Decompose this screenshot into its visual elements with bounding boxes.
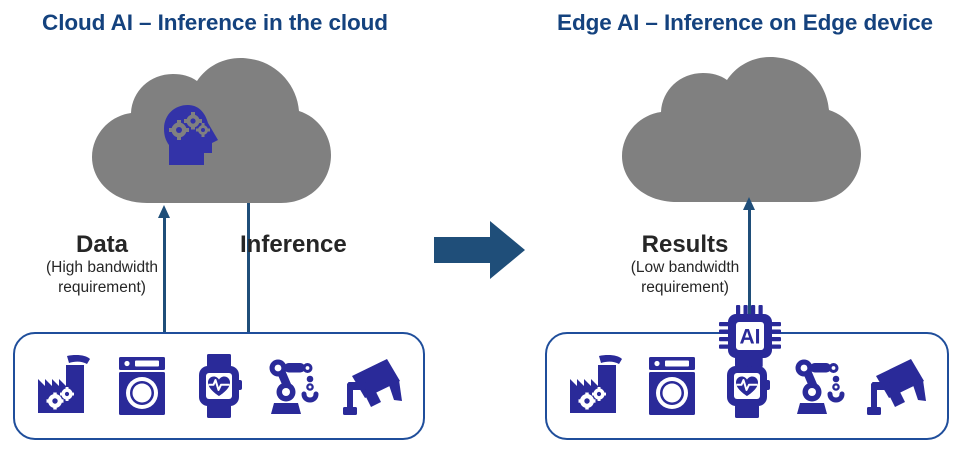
edge-cloud-shape-icon bbox=[615, 52, 865, 204]
cctv-camera-icon bbox=[866, 353, 928, 419]
cloud-device-row bbox=[15, 334, 423, 438]
inference-arrow-line bbox=[247, 203, 250, 345]
cctv-camera-icon bbox=[342, 353, 404, 419]
cloud-ai-title: Cloud AI – Inference in the cloud bbox=[0, 10, 430, 36]
results-label-title: Results bbox=[600, 232, 770, 258]
data-label-sub-1: (High bandwidth bbox=[22, 258, 182, 278]
results-label-sub-2: requirement) bbox=[600, 278, 770, 298]
inference-label-title: Inference bbox=[240, 232, 400, 258]
robot-arm-icon bbox=[265, 353, 327, 419]
washing-machine-icon bbox=[641, 353, 703, 419]
edge-ai-title: Edge AI – Inference on Edge device bbox=[530, 10, 960, 36]
results-label-sub-1: (Low bandwidth bbox=[600, 258, 770, 278]
results-arrow-head-icon bbox=[743, 197, 755, 210]
cloud-ai-panel: Cloud AI – Inference in the cloud bbox=[0, 0, 430, 449]
washing-machine-icon bbox=[111, 353, 173, 419]
results-label: Results (Low bandwidth requirement) bbox=[600, 232, 770, 298]
ai-chip-text: AI bbox=[740, 326, 761, 349]
data-label: Data (High bandwidth requirement) bbox=[22, 232, 182, 298]
data-label-title: Data bbox=[22, 232, 182, 258]
ai-chip-icon: AI bbox=[719, 305, 781, 367]
cloud-device-box bbox=[13, 332, 425, 440]
data-arrow-head-icon bbox=[158, 205, 170, 218]
inference-label: Inference bbox=[240, 232, 400, 258]
factory-icon bbox=[566, 353, 628, 419]
smartwatch-icon bbox=[188, 353, 250, 419]
brain-head-gears-icon bbox=[160, 103, 222, 168]
factory-icon bbox=[34, 353, 96, 419]
transition-right-arrow-icon bbox=[434, 219, 526, 281]
robot-arm-icon bbox=[791, 353, 853, 419]
data-label-sub-2: requirement) bbox=[22, 278, 182, 298]
